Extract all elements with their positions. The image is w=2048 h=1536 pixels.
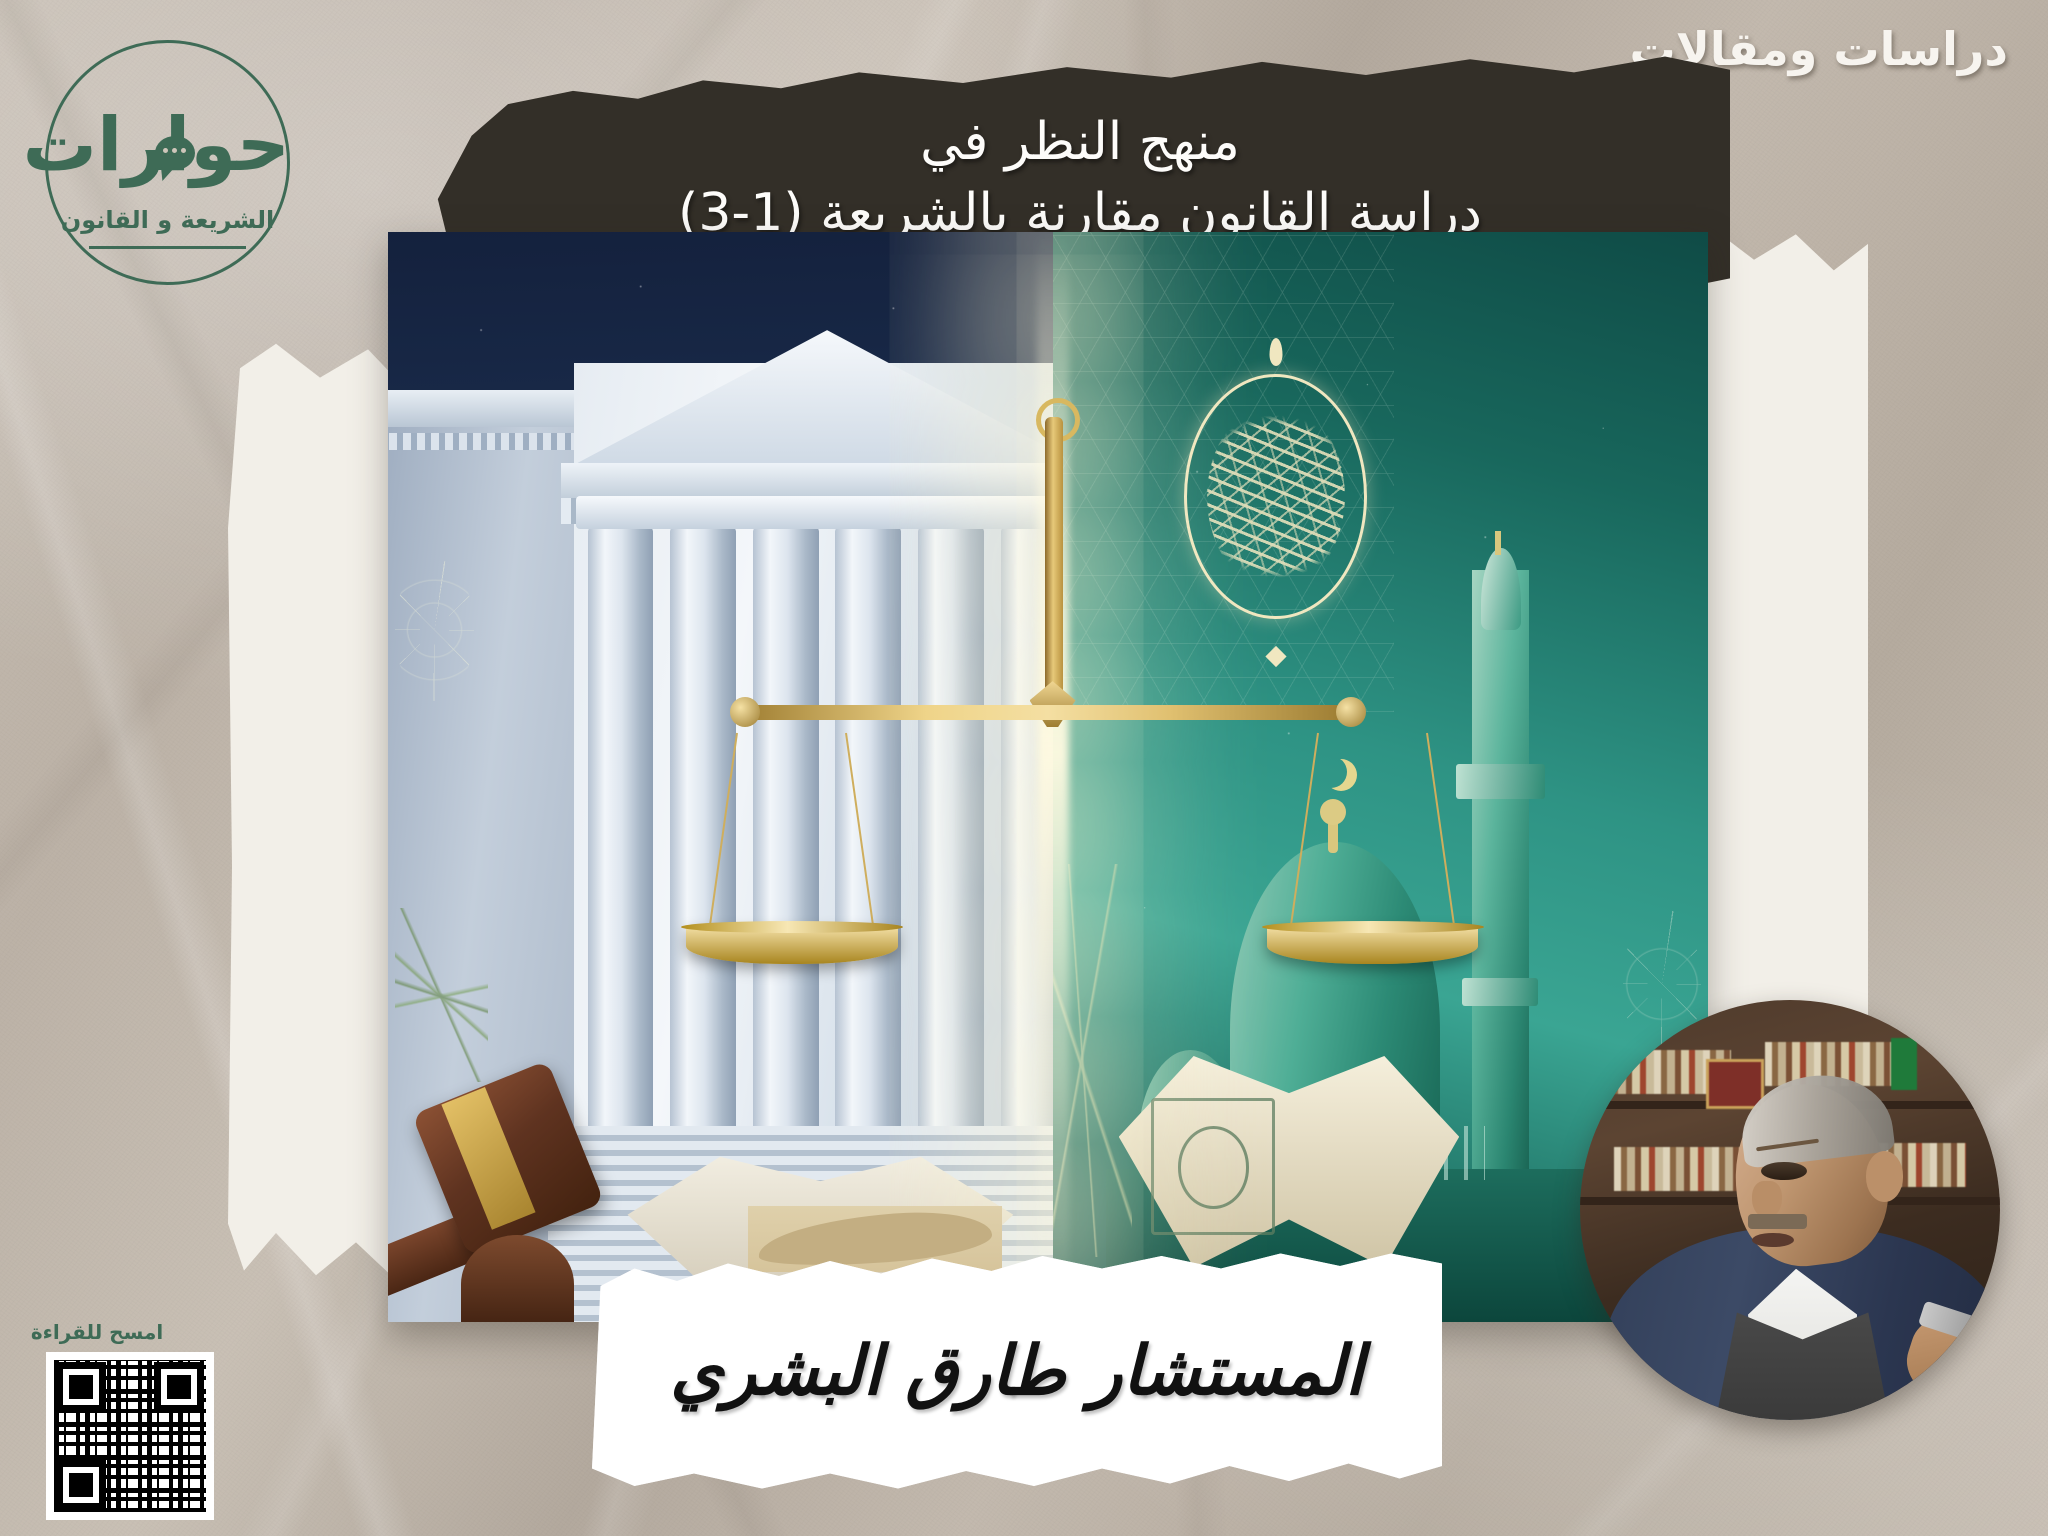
speech-bubble-icon	[155, 136, 195, 170]
plant-icon	[395, 908, 488, 1082]
quran-medallion	[1178, 1126, 1249, 1208]
book-row	[1614, 1147, 1748, 1191]
qr-finder-bottom-left	[56, 1460, 106, 1510]
green-book	[1891, 1038, 1917, 1090]
qr-matrix	[54, 1360, 206, 1512]
qr-caption: امسح للقراءة	[14, 1320, 214, 1344]
dome-finial	[1328, 819, 1338, 853]
qr-code-icon[interactable]	[46, 1352, 214, 1520]
arabic-calligraphy-medallion	[1184, 374, 1367, 620]
ear	[1866, 1151, 1904, 1201]
minaret-balcony-lower	[1462, 978, 1538, 1006]
brand-logo[interactable]: حوارات الشريعة و القانون	[45, 40, 290, 285]
nose	[1752, 1181, 1781, 1219]
light-beam	[1037, 232, 1069, 1322]
qr-finder-top-left	[56, 1362, 106, 1412]
ellipsis-icon	[163, 148, 186, 153]
crescent-icon	[1315, 756, 1347, 788]
qr-finder-top-right	[154, 1362, 204, 1412]
moustache	[1748, 1214, 1807, 1229]
minaret-balcony-upper	[1456, 764, 1545, 799]
calligraphy-glyphs	[1207, 403, 1345, 590]
ionic-columns	[588, 526, 1054, 1126]
minaret-finial	[1495, 531, 1501, 555]
guest-name: المستشار طارق البشري	[592, 1246, 1442, 1496]
qr-scan-block[interactable]: امسح للقراءة	[14, 1320, 214, 1520]
dry-branch-icon	[395, 559, 475, 701]
guest-portrait-avatar	[1580, 1000, 2000, 1420]
minaret	[1472, 570, 1528, 1180]
framed-plaque	[1706, 1059, 1764, 1109]
eye	[1761, 1162, 1807, 1180]
feature-illustration	[388, 232, 1708, 1322]
poster-canvas: حوارات الشريعة و القانون دراسات ومقالات …	[0, 0, 2048, 1536]
logo-subtitle: الشريعة و القانون	[45, 206, 290, 234]
civil-law-scene	[388, 232, 1053, 1322]
entablature	[561, 463, 1053, 498]
logo-underline-divider	[89, 246, 246, 249]
